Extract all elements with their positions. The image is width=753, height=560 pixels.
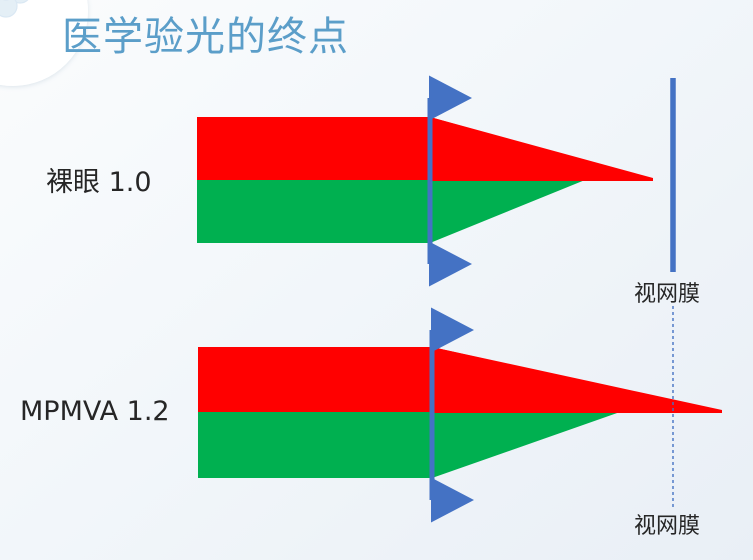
row-2-optics-group <box>198 306 722 508</box>
slide-canvas: 医学验光的终点 <box>0 0 753 560</box>
row-1-green-band <box>197 180 585 243</box>
row-label-mpmva: MPMVA 1.2 <box>20 396 170 427</box>
retina-label-row-2: 视网膜 <box>634 508 700 540</box>
row-1-red-apex-sliver <box>430 117 653 181</box>
row-2-red-apex-sliver <box>432 347 722 413</box>
row-2-green-band <box>198 412 620 478</box>
row-1-optics-group <box>197 78 673 272</box>
retina-label-row-1: 视网膜 <box>634 276 700 308</box>
row-label-naked-eye: 裸眼 1.0 <box>46 160 152 199</box>
